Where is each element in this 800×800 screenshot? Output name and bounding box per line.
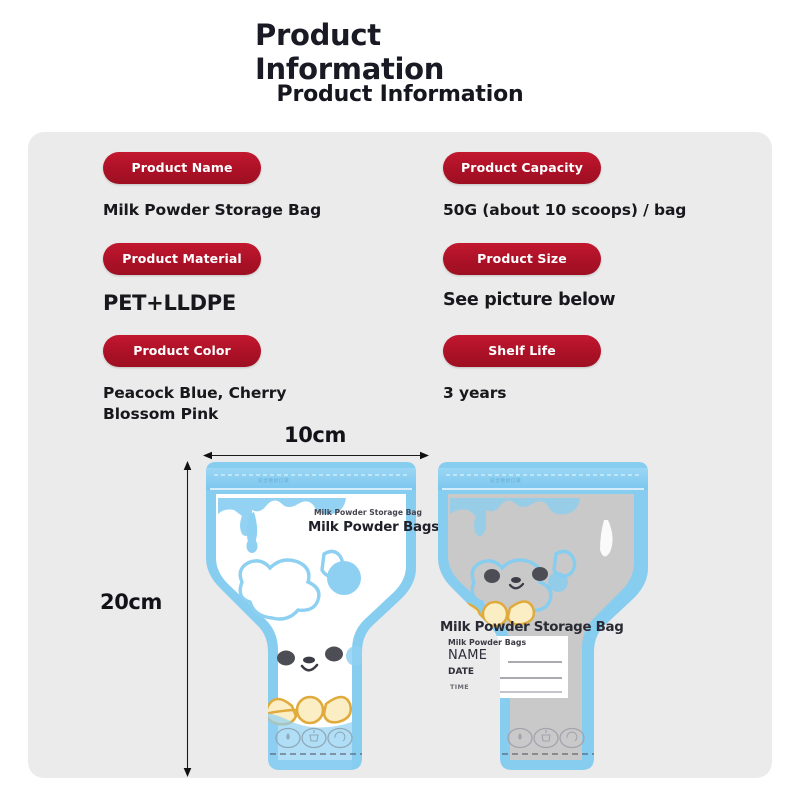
bag-b-field-time: TIME <box>450 683 469 691</box>
dimension-height-label: 20cm <box>100 590 162 614</box>
milk-droplet <box>247 539 258 553</box>
bag-cherry-blossom-pink: 安全密封口袋 Milk Powder Storage Bag Milk Powd… <box>430 458 658 778</box>
bag-a-zip-text: 安全密封口袋 <box>258 478 289 484</box>
bear-eye-left <box>277 651 295 666</box>
product-information-page: ProductInformation Product Information P… <box>0 0 800 800</box>
spec-value-product-name: Milk Powder Storage Bag <box>103 200 321 221</box>
spec-value-product-color: Peacock Blue, Cherry Blossom Pink <box>103 383 348 425</box>
bear-eye-right <box>325 647 343 662</box>
bag-b-field-date: DATE <box>448 667 474 677</box>
page-subtitle: Product Information <box>0 82 800 107</box>
spec-label-product-capacity: Product Capacity <box>443 152 601 184</box>
spec-label-product-color: Product Color <box>103 335 261 367</box>
spec-label-shelf-life: Shelf Life <box>443 335 601 367</box>
page-title-line1: Product <box>255 18 381 52</box>
spec-value-product-size: See picture below <box>443 289 615 313</box>
bag-b-big-text: Milk Powder Storage Bag <box>440 620 624 635</box>
zip-seal <box>206 468 416 490</box>
zip-seal <box>438 468 648 490</box>
bear-cheek <box>346 646 366 666</box>
bear-nose <box>303 657 315 664</box>
bear-cheek <box>548 572 568 592</box>
spec-product-capacity: Product Capacity 50G (about 10 scoops) /… <box>443 152 686 221</box>
spec-value-product-material: PET+LLDPE <box>103 289 261 317</box>
bear-eye-left <box>484 569 500 583</box>
dimension-height-arrow <box>183 461 192 777</box>
spec-value-shelf-life: 3 years <box>443 383 601 404</box>
blue-dot <box>327 561 361 595</box>
bag-cherry-blossom-pink-graphic <box>430 458 658 778</box>
spec-shelf-life: Shelf Life 3 years <box>443 335 601 404</box>
dimension-width-label: 10cm <box>284 423 346 447</box>
spec-label-product-material: Product Material <box>103 243 261 275</box>
product-photo: 安全密封口袋 Milk Powder Storage Bag Milk Powd… <box>196 458 658 778</box>
spec-value-product-capacity: 50G (about 10 scoops) / bag <box>443 200 686 221</box>
bag-b-zip-text: 安全密封口袋 <box>490 478 521 484</box>
bear-nose <box>511 577 521 583</box>
page-title-text: ProductInformation <box>255 18 545 86</box>
bag-peacock-blue-graphic <box>196 458 426 778</box>
bear-eye-right <box>532 567 548 581</box>
bag-b-field-name: NAME <box>448 648 487 663</box>
page-title: ProductInformation <box>0 18 800 86</box>
spec-product-name: Product Name Milk Powder Storage Bag <box>103 152 321 221</box>
bag-a-small-text: Milk Powder Storage Bag <box>314 508 422 517</box>
spec-product-material: Product Material PET+LLDPE <box>103 243 261 317</box>
spec-product-size: Product Size See picture below <box>443 243 615 313</box>
spec-product-color: Product Color Peacock Blue, Cherry Bloss… <box>103 335 348 425</box>
spec-label-product-size: Product Size <box>443 243 601 275</box>
bag-a-big-text: Milk Powder Bags <box>308 520 439 535</box>
bag-b-small-text: Milk Powder Bags <box>448 638 526 647</box>
bag-peacock-blue: 安全密封口袋 Milk Powder Storage Bag Milk Powd… <box>196 458 426 778</box>
spec-label-product-name: Product Name <box>103 152 261 184</box>
